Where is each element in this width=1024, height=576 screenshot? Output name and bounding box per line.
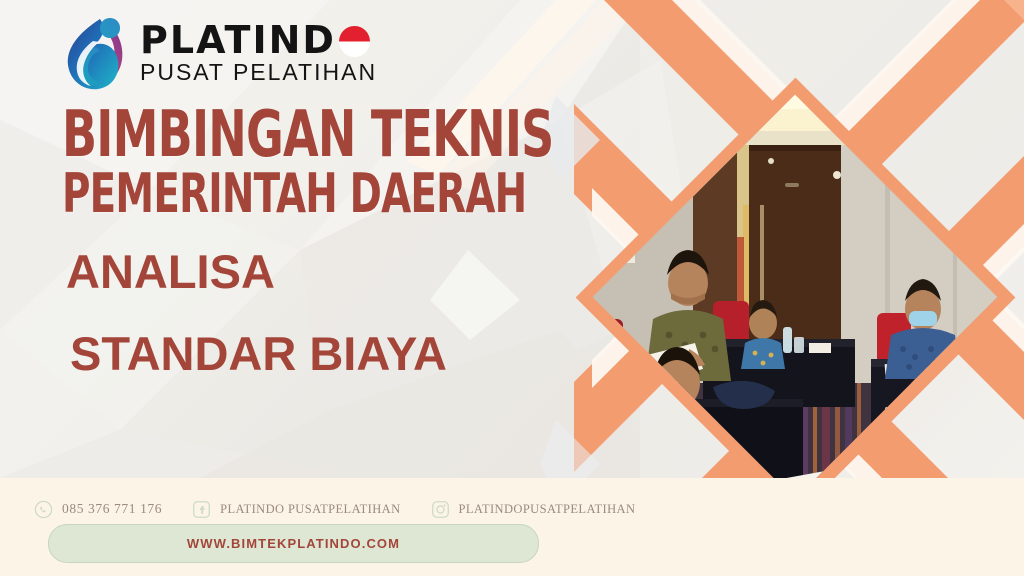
- diamond-shape: [575, 77, 1015, 517]
- whatsapp-number: 085 376 771 176: [62, 501, 162, 517]
- poster-canvas: PLATIND PUSAT PELATIHAN BIMBINGAN TEKNIS…: [0, 0, 1024, 576]
- page-title: BIMBINGAN TEKNIS PEMERINTAH DAERAH ANALI…: [62, 104, 582, 382]
- diamond-photo-clip: [593, 95, 997, 499]
- title-line-4: STANDAR BIAYA: [70, 326, 582, 382]
- website-url: WWW.BIMTEKPLATINDO.COM: [187, 536, 400, 551]
- brand-wordmark: PLATIND PUSAT PELATIHAN: [140, 21, 377, 84]
- logo-mark-svg: [60, 11, 132, 93]
- contact-whatsapp[interactable]: 085 376 771 176: [34, 500, 162, 519]
- instagram-handle: PLATINDOPUSATPELATIHAN: [459, 502, 636, 517]
- title-line-2: PEMERINTAH DAERAH: [62, 166, 478, 222]
- contact-instagram[interactable]: PLATINDOPUSATPELATIHAN: [431, 500, 636, 519]
- meeting-photo: [593, 95, 997, 499]
- meeting-photo-illustration: [593, 95, 997, 499]
- brand-logo[interactable]: PLATIND PUSAT PELATIHAN: [60, 8, 377, 96]
- facebook-icon: [192, 500, 211, 519]
- whatsapp-icon: [34, 500, 53, 519]
- facebook-handle: PLATINDO PUSATPELATIHAN: [220, 502, 400, 517]
- contact-facebook[interactable]: PLATINDO PUSATPELATIHAN: [192, 500, 400, 519]
- platindo-flame-figure-logo: [60, 11, 132, 93]
- website-button[interactable]: WWW.BIMTEKPLATINDO.COM: [48, 524, 539, 563]
- diamond-photo-frame: [575, 77, 1015, 517]
- brand-name-text: PLATIND: [140, 21, 336, 59]
- indonesia-flag-o-icon: [339, 26, 370, 57]
- contact-bar: 085 376 771 176 PLATINDO PUSATPELATIHAN …: [34, 498, 665, 520]
- title-line-1: BIMBINGAN TEKNIS: [62, 104, 478, 166]
- title-line-3: ANALISA: [66, 244, 582, 300]
- instagram-icon: [431, 500, 450, 519]
- brand-name: PLATIND: [140, 21, 377, 59]
- brand-tagline: PUSAT PELATIHAN: [140, 60, 377, 84]
